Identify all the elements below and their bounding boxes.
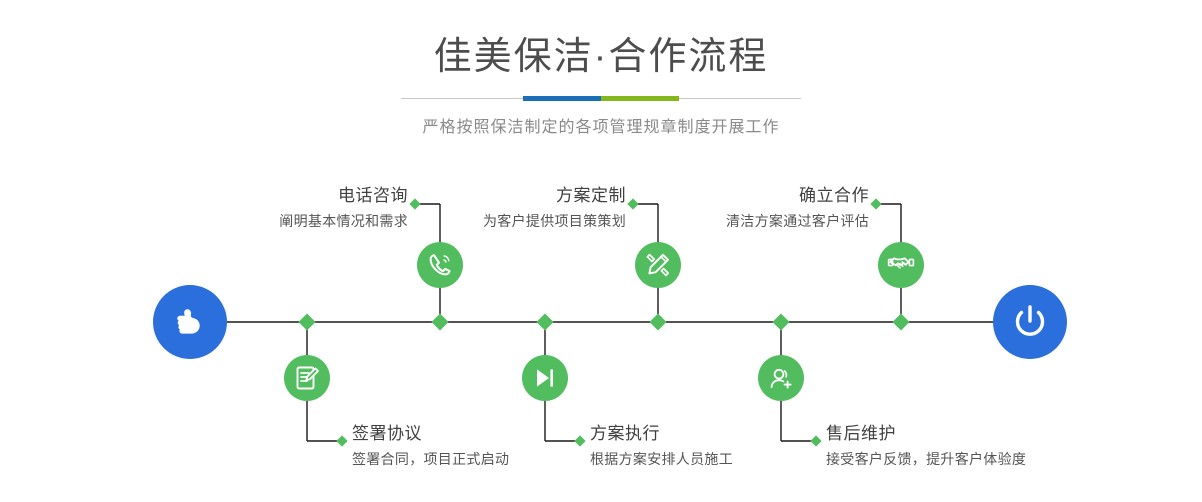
diamond-marker	[773, 314, 790, 331]
step-icon-customer-service-add[interactable]	[758, 355, 804, 401]
diamond-label-marker	[627, 198, 638, 209]
step-title: 确立合作	[676, 186, 869, 206]
handshake-icon	[887, 251, 915, 279]
step-label-4: 方案执行 根据方案安排人员施工	[590, 424, 733, 469]
divider-segment-blue	[523, 96, 601, 101]
diamond-label-marker	[409, 198, 420, 209]
page-subtitle: 严格按照保洁制定的各项管理规章制度开展工作	[0, 101, 1202, 137]
step-title: 方案定制	[433, 186, 626, 206]
diamond-marker	[299, 314, 316, 331]
document-sign-icon	[293, 364, 321, 392]
step-subtitle: 清洁方案通过客户评估	[676, 211, 869, 231]
step-icon-document-sign[interactable]	[284, 355, 330, 401]
pencil-ruler-icon	[644, 251, 672, 279]
step-icon-handshake[interactable]	[878, 242, 924, 288]
customer-service-add-icon	[767, 364, 795, 392]
step-icon-play-execute[interactable]	[522, 355, 568, 401]
diamond-marker	[650, 314, 667, 331]
step-label-3: 方案定制 为客户提供项目策策划	[433, 186, 626, 231]
step-title: 电话咨询	[215, 186, 408, 206]
play-execute-icon	[531, 364, 559, 392]
step-title: 售后维护	[826, 424, 1026, 444]
title-divider	[401, 96, 801, 101]
step-icon-pencil-ruler[interactable]	[635, 242, 681, 288]
step-label-2: 签署协议 签署合同，项目正式启动	[352, 424, 509, 469]
spine-diamonds	[299, 314, 910, 331]
step-subtitle: 为客户提供项目策策划	[433, 211, 626, 231]
step-title: 签署协议	[352, 424, 509, 444]
step-subtitle: 阐明基本情况和需求	[215, 211, 408, 231]
page-header: 佳美保洁·合作流程 严格按照保洁制定的各项管理规章制度开展工作	[0, 0, 1202, 137]
diamond-label-marker	[870, 198, 881, 209]
step-subtitle: 接受客户反馈，提升客户体验度	[826, 449, 1026, 469]
flow-start-node[interactable]	[153, 285, 227, 359]
flow-end-node[interactable]	[993, 285, 1067, 359]
step-subtitle: 签署合同，项目正式启动	[352, 449, 509, 469]
diamond-label-marker	[810, 435, 821, 446]
step-label-6: 售后维护 接受客户反馈，提升客户体验度	[826, 424, 1026, 469]
step-subtitle: 根据方案安排人员施工	[590, 449, 733, 469]
phone-call-icon	[426, 251, 454, 279]
power-icon	[1009, 301, 1051, 343]
step-title: 方案执行	[590, 424, 733, 444]
diamond-marker	[432, 314, 449, 331]
diamond-marker	[537, 314, 554, 331]
divider-segment-green	[601, 96, 679, 101]
step-icon-phone-call[interactable]	[417, 242, 463, 288]
diamond-label-marker	[574, 435, 585, 446]
page-title: 佳美保洁·合作流程	[0, 0, 1202, 82]
step-label-1: 电话咨询 阐明基本情况和需求	[215, 186, 408, 231]
label-diamonds	[336, 198, 881, 446]
step-label-5: 确立合作 清洁方案通过客户评估	[676, 186, 869, 231]
pointing-hand-icon	[170, 302, 210, 342]
diamond-marker	[893, 314, 910, 331]
diamond-label-marker	[336, 435, 347, 446]
